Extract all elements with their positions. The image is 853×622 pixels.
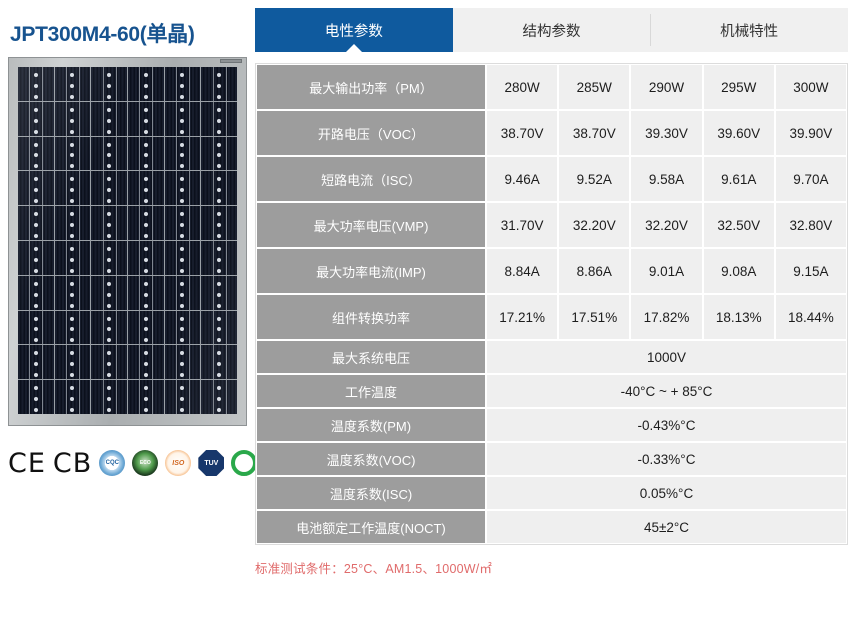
busbar-solder-dot xyxy=(34,269,38,273)
solar-cell xyxy=(91,102,127,136)
busbar-solder-dot xyxy=(107,408,111,412)
table-row: 组件转换功率17.21%17.51%17.82%18.13%18.44% xyxy=(257,295,846,339)
busbar-solder-dot xyxy=(180,282,184,286)
spec-value-cell: -40°C ~ + 85°C xyxy=(487,375,846,407)
spec-value-cell: 32.20V xyxy=(631,203,701,247)
busbar-solder-dot xyxy=(107,338,111,342)
solar-cell xyxy=(165,241,201,275)
busbar-solder-dot xyxy=(217,408,221,412)
spec-value-cell: 39.90V xyxy=(776,111,846,155)
busbar-solder-dot xyxy=(180,84,184,88)
solar-cell xyxy=(91,206,127,240)
busbar-solder-dot xyxy=(70,164,74,168)
busbar-solder-dot xyxy=(144,223,148,227)
busbar-solder-dot xyxy=(107,223,111,227)
spec-value-cell: 290W xyxy=(631,65,701,109)
product-showcase-panel: JPT300M4-60(单晶) CE CB CQC ECO ISO TUV xyxy=(0,0,255,622)
busbar-solder-dot xyxy=(144,293,148,297)
busbar-solder-dot xyxy=(217,338,221,342)
busbar-solder-dot xyxy=(34,386,38,390)
busbar-solder-dot xyxy=(107,177,111,181)
spec-value-cell: 32.50V xyxy=(704,203,774,247)
busbar-solder-dot xyxy=(34,373,38,377)
busbar-solder-dot xyxy=(34,258,38,262)
busbar-solder-dot xyxy=(217,212,221,216)
table-row: 电池额定工作温度(NOCT)45±2°C xyxy=(257,511,846,543)
spec-value-cell: 9.08A xyxy=(704,249,774,293)
busbar-solder-dot xyxy=(70,223,74,227)
spec-row-label: 短路电流（ISC） xyxy=(257,157,485,201)
solar-cell xyxy=(18,345,54,379)
spec-value-cell: 32.20V xyxy=(559,203,629,247)
busbar-solder-dot xyxy=(107,247,111,251)
busbar-solder-dot xyxy=(180,338,184,342)
spec-row-values: 8.84A8.86A9.01A9.08A9.15A xyxy=(487,249,846,293)
solar-cell xyxy=(128,102,164,136)
busbar-solder-dot xyxy=(70,73,74,77)
solar-cell xyxy=(55,241,91,275)
solar-cell xyxy=(201,102,237,136)
busbar-solder-dot xyxy=(180,373,184,377)
busbar-solder-dot xyxy=(217,108,221,112)
solar-panel-image xyxy=(8,57,247,426)
spec-value-cell: 18.44% xyxy=(776,295,846,339)
spec-row-values: 280W285W290W295W300W xyxy=(487,65,846,109)
green-ring-badge-icon xyxy=(231,450,257,476)
spec-row-values: -0.33%°C xyxy=(487,443,846,475)
busbar-solder-dot xyxy=(34,304,38,308)
busbar-solder-dot xyxy=(34,338,38,342)
busbar-solder-dot xyxy=(34,282,38,286)
busbar-solder-dot xyxy=(217,327,221,331)
busbar-solder-dot xyxy=(107,212,111,216)
solar-cell xyxy=(91,380,127,414)
busbar-solder-dot xyxy=(107,362,111,366)
tab-label: 结构参数 xyxy=(523,20,581,41)
busbar-solder-dot xyxy=(107,327,111,331)
busbar-solder-dot xyxy=(180,408,184,412)
table-row: 最大系统电压1000V xyxy=(257,341,846,373)
table-row: 最大功率电压(VMP)31.70V32.20V32.20V32.50V32.80… xyxy=(257,203,846,247)
solar-cell xyxy=(165,171,201,205)
busbar-solder-dot xyxy=(70,338,74,342)
busbar-solder-dot xyxy=(144,373,148,377)
busbar-solder-dot xyxy=(180,212,184,216)
busbar-solder-dot xyxy=(144,362,148,366)
busbar-solder-dot xyxy=(70,408,74,412)
table-row: 最大输出功率（PM）280W285W290W295W300W xyxy=(257,65,846,109)
solar-cell xyxy=(18,102,54,136)
busbar-solder-dot xyxy=(34,130,38,134)
tuv-badge-icon: TUV xyxy=(198,450,224,476)
tab-structural-parameters[interactable]: 结构参数 xyxy=(453,8,651,52)
busbar-solder-dot xyxy=(107,95,111,99)
busbar-solder-dot xyxy=(180,317,184,321)
busbar-solder-dot xyxy=(70,212,74,216)
busbar-solder-dot xyxy=(180,119,184,123)
busbar-solder-dot xyxy=(70,304,74,308)
panel-nameplate-sticker xyxy=(220,59,242,63)
solar-cell xyxy=(201,276,237,310)
busbar-solder-dot xyxy=(144,351,148,355)
spec-tab-bar: 电性参数 结构参数 机械特性 xyxy=(255,8,848,52)
solar-cell xyxy=(91,345,127,379)
spec-value-cell: 38.70V xyxy=(487,111,557,155)
busbar-solder-dot xyxy=(180,95,184,99)
busbar-solder-dot xyxy=(34,351,38,355)
solar-cell xyxy=(91,171,127,205)
spec-value-cell: 9.15A xyxy=(776,249,846,293)
spec-value-cell: 17.21% xyxy=(487,295,557,339)
busbar-solder-dot xyxy=(70,386,74,390)
busbar-solder-dot xyxy=(34,143,38,147)
solar-cell xyxy=(55,311,91,345)
busbar-solder-dot xyxy=(144,119,148,123)
solar-cell xyxy=(128,241,164,275)
busbar-solder-dot xyxy=(70,119,74,123)
busbar-solder-dot xyxy=(180,304,184,308)
spec-row-label: 开路电压（VOC） xyxy=(257,111,485,155)
busbar-solder-dot xyxy=(144,234,148,238)
spec-row-values: 17.21%17.51%17.82%18.13%18.44% xyxy=(487,295,846,339)
spec-row-label: 最大输出功率（PM） xyxy=(257,65,485,109)
spec-value-cell: 9.70A xyxy=(776,157,846,201)
busbar-solder-dot xyxy=(107,304,111,308)
solar-cell xyxy=(165,311,201,345)
busbar-solder-dot xyxy=(70,293,74,297)
solar-cell xyxy=(18,137,54,171)
busbar-solder-dot xyxy=(34,73,38,77)
busbar-solder-dot xyxy=(217,164,221,168)
busbar-solder-dot xyxy=(34,199,38,203)
busbar-solder-dot xyxy=(34,397,38,401)
test-conditions-footnote: 标准测试条件：25°C、AM1.5、1000W/㎡ xyxy=(255,558,850,577)
spec-value-cell: 38.70V xyxy=(559,111,629,155)
busbar-solder-dot xyxy=(70,177,74,181)
cqc-badge-icon: CQC xyxy=(99,450,125,476)
solar-cell xyxy=(55,67,91,101)
electrical-spec-table: 最大输出功率（PM）280W285W290W295W300W开路电压（VOC）3… xyxy=(255,63,848,545)
busbar-solder-dot xyxy=(144,212,148,216)
solar-cell xyxy=(165,67,201,101)
solar-cell xyxy=(55,102,91,136)
spec-row-values: -0.43%°C xyxy=(487,409,846,441)
busbar-solder-dot xyxy=(217,223,221,227)
busbar-solder-dot xyxy=(180,188,184,192)
busbar-solder-dot xyxy=(217,282,221,286)
busbar-solder-dot xyxy=(180,293,184,297)
busbar-solder-dot xyxy=(144,397,148,401)
busbar-solder-dot xyxy=(180,143,184,147)
busbar-solder-dot xyxy=(217,73,221,77)
busbar-solder-dot xyxy=(180,397,184,401)
busbar-solder-dot xyxy=(70,327,74,331)
busbar-solder-dot xyxy=(107,130,111,134)
page-title: JPT300M4-60(单晶) xyxy=(10,18,195,48)
busbar-solder-dot xyxy=(217,119,221,123)
spec-row-values: -40°C ~ + 85°C xyxy=(487,375,846,407)
busbar-solder-dot xyxy=(144,258,148,262)
solar-cell xyxy=(55,345,91,379)
busbar-solder-dot xyxy=(107,351,111,355)
solar-cell xyxy=(128,345,164,379)
busbar-solder-dot xyxy=(70,130,74,134)
busbar-solder-dot xyxy=(180,73,184,77)
busbar-solder-dot xyxy=(70,362,74,366)
busbar-solder-dot xyxy=(34,327,38,331)
busbar-solder-dot xyxy=(217,143,221,147)
spec-value-cell: -0.33%°C xyxy=(487,443,846,475)
table-row: 温度系数(VOC)-0.33%°C xyxy=(257,443,846,475)
iso-badge-icon: ISO xyxy=(165,450,191,476)
busbar-solder-dot xyxy=(70,317,74,321)
busbar-solder-dot xyxy=(107,164,111,168)
busbar-solder-dot xyxy=(217,304,221,308)
spec-value-cell: 8.84A xyxy=(487,249,557,293)
busbar-solder-dot xyxy=(217,269,221,273)
busbar-solder-dot xyxy=(217,373,221,377)
spec-row-label: 工作温度 xyxy=(257,375,485,407)
busbar-solder-dot xyxy=(70,282,74,286)
busbar-solder-dot xyxy=(70,188,74,192)
solar-cell xyxy=(18,311,54,345)
solar-cell-grid xyxy=(18,67,237,414)
solar-cell xyxy=(18,171,54,205)
busbar-solder-dot xyxy=(144,95,148,99)
busbar-solder-dot xyxy=(34,188,38,192)
solar-cell xyxy=(18,276,54,310)
busbar-solder-dot xyxy=(144,108,148,112)
busbar-solder-dot xyxy=(34,84,38,88)
spec-value-cell: 32.80V xyxy=(776,203,846,247)
table-row: 短路电流（ISC）9.46A9.52A9.58A9.61A9.70A xyxy=(257,157,846,201)
table-row: 温度系数(PM)-0.43%°C xyxy=(257,409,846,441)
busbar-solder-dot xyxy=(107,153,111,157)
busbar-solder-dot xyxy=(180,327,184,331)
busbar-solder-dot xyxy=(217,317,221,321)
busbar-solder-dot xyxy=(217,234,221,238)
spec-value-cell: 280W xyxy=(487,65,557,109)
solar-cell xyxy=(201,345,237,379)
solar-cell xyxy=(201,137,237,171)
busbar-solder-dot xyxy=(180,177,184,181)
table-row: 最大功率电流(IMP)8.84A8.86A9.01A9.08A9.15A xyxy=(257,249,846,293)
tab-mechanical-characteristics[interactable]: 机械特性 xyxy=(650,8,848,52)
spec-row-values: 31.70V32.20V32.20V32.50V32.80V xyxy=(487,203,846,247)
busbar-solder-dot xyxy=(34,164,38,168)
solar-cell xyxy=(55,206,91,240)
solar-cell xyxy=(165,206,201,240)
spec-value-cell: 31.70V xyxy=(487,203,557,247)
busbar-solder-dot xyxy=(107,84,111,88)
busbar-solder-dot xyxy=(144,188,148,192)
busbar-solder-dot xyxy=(107,258,111,262)
busbar-solder-dot xyxy=(70,247,74,251)
spec-row-values: 9.46A9.52A9.58A9.61A9.70A xyxy=(487,157,846,201)
table-row: 温度系数(ISC)0.05%°C xyxy=(257,477,846,509)
busbar-solder-dot xyxy=(180,164,184,168)
spec-value-cell: 300W xyxy=(776,65,846,109)
busbar-solder-dot xyxy=(180,130,184,134)
busbar-solder-dot xyxy=(70,153,74,157)
solar-cell xyxy=(55,380,91,414)
spec-row-values: 0.05%°C xyxy=(487,477,846,509)
tab-label: 机械特性 xyxy=(720,20,778,41)
solar-cell xyxy=(165,137,201,171)
busbar-solder-dot xyxy=(70,108,74,112)
busbar-solder-dot xyxy=(107,188,111,192)
spec-row-label: 温度系数(PM) xyxy=(257,409,485,441)
spec-value-cell: 285W xyxy=(559,65,629,109)
busbar-solder-dot xyxy=(107,108,111,112)
solar-cell xyxy=(18,241,54,275)
busbar-solder-dot xyxy=(70,269,74,273)
busbar-solder-dot xyxy=(217,362,221,366)
busbar-solder-dot xyxy=(34,177,38,181)
spec-value-cell: 1000V xyxy=(487,341,846,373)
busbar-solder-dot xyxy=(144,164,148,168)
busbar-solder-dot xyxy=(70,373,74,377)
spec-row-label: 最大系统电压 xyxy=(257,341,485,373)
solar-cell xyxy=(165,102,201,136)
tab-label: 电性参数 xyxy=(325,20,383,41)
busbar-solder-dot xyxy=(34,119,38,123)
busbar-solder-dot xyxy=(180,199,184,203)
solar-cell xyxy=(18,380,54,414)
panel-laminate xyxy=(18,67,237,414)
busbar-solder-dot xyxy=(180,269,184,273)
busbar-solder-dot xyxy=(144,304,148,308)
spec-row-values: 1000V xyxy=(487,341,846,373)
busbar-solder-dot xyxy=(217,397,221,401)
busbar-solder-dot xyxy=(217,130,221,134)
solar-cell xyxy=(201,67,237,101)
busbar-solder-dot xyxy=(180,362,184,366)
table-row: 工作温度-40°C ~ + 85°C xyxy=(257,375,846,407)
busbar-solder-dot xyxy=(70,143,74,147)
busbar-solder-dot xyxy=(180,386,184,390)
solar-cell xyxy=(128,67,164,101)
busbar-solder-dot xyxy=(107,373,111,377)
spec-value-cell: 9.52A xyxy=(559,157,629,201)
busbar-solder-dot xyxy=(34,247,38,251)
busbar-solder-dot xyxy=(107,293,111,297)
ce-mark-icon: CE xyxy=(8,450,46,477)
busbar-solder-dot xyxy=(180,247,184,251)
busbar-solder-dot xyxy=(144,269,148,273)
busbar-solder-dot xyxy=(144,247,148,251)
solar-cell xyxy=(201,171,237,205)
busbar-solder-dot xyxy=(144,338,148,342)
spec-row-label: 组件转换功率 xyxy=(257,295,485,339)
busbar-solder-dot xyxy=(217,199,221,203)
busbar-solder-dot xyxy=(107,386,111,390)
busbar-solder-dot xyxy=(107,317,111,321)
solar-cell xyxy=(128,171,164,205)
busbar-solder-dot xyxy=(70,258,74,262)
busbar-solder-dot xyxy=(34,234,38,238)
busbar-solder-dot xyxy=(180,153,184,157)
solar-cell xyxy=(128,137,164,171)
busbar-solder-dot xyxy=(34,408,38,412)
busbar-solder-dot xyxy=(107,282,111,286)
certification-logos: CE CB CQC ECO ISO TUV xyxy=(8,445,238,481)
spec-row-label: 温度系数(ISC) xyxy=(257,477,485,509)
spec-row-values: 45±2°C xyxy=(487,511,846,543)
spec-value-cell: 9.46A xyxy=(487,157,557,201)
busbar-solder-dot xyxy=(217,386,221,390)
busbar-solder-dot xyxy=(217,258,221,262)
specifications-panel: 电性参数 结构参数 机械特性 最大输出功率（PM）280W285W290W295… xyxy=(255,8,850,577)
solar-cell xyxy=(91,137,127,171)
spec-value-cell: 295W xyxy=(704,65,774,109)
solar-cell xyxy=(201,206,237,240)
busbar-solder-dot xyxy=(107,397,111,401)
solar-cell xyxy=(91,311,127,345)
spec-value-cell: 39.60V xyxy=(704,111,774,155)
busbar-solder-dot xyxy=(107,73,111,77)
busbar-solder-dot xyxy=(144,327,148,331)
busbar-solder-dot xyxy=(144,84,148,88)
busbar-solder-dot xyxy=(107,143,111,147)
busbar-solder-dot xyxy=(34,293,38,297)
busbar-solder-dot xyxy=(70,351,74,355)
busbar-solder-dot xyxy=(144,130,148,134)
busbar-solder-dot xyxy=(70,95,74,99)
busbar-solder-dot xyxy=(180,351,184,355)
busbar-solder-dot xyxy=(217,188,221,192)
solar-cell xyxy=(91,67,127,101)
busbar-solder-dot xyxy=(144,73,148,77)
busbar-solder-dot xyxy=(107,119,111,123)
busbar-solder-dot xyxy=(144,317,148,321)
busbar-solder-dot xyxy=(34,362,38,366)
busbar-solder-dot xyxy=(144,408,148,412)
solar-cell xyxy=(165,276,201,310)
busbar-solder-dot xyxy=(144,177,148,181)
busbar-solder-dot xyxy=(217,351,221,355)
busbar-solder-dot xyxy=(180,223,184,227)
solar-cell xyxy=(18,206,54,240)
tab-electrical-parameters[interactable]: 电性参数 xyxy=(255,8,453,52)
spec-value-cell: 39.30V xyxy=(631,111,701,155)
busbar-solder-dot xyxy=(34,95,38,99)
solar-cell xyxy=(128,276,164,310)
spec-row-label: 最大功率电压(VMP) xyxy=(257,203,485,247)
solar-cell xyxy=(18,67,54,101)
busbar-solder-dot xyxy=(34,223,38,227)
busbar-solder-dot xyxy=(180,108,184,112)
solar-cell xyxy=(55,137,91,171)
solar-cell xyxy=(91,241,127,275)
busbar-solder-dot xyxy=(217,293,221,297)
solar-cell xyxy=(55,171,91,205)
busbar-solder-dot xyxy=(180,258,184,262)
solar-cell xyxy=(91,276,127,310)
busbar-solder-dot xyxy=(217,247,221,251)
spec-value-cell: 9.01A xyxy=(631,249,701,293)
busbar-solder-dot xyxy=(217,95,221,99)
spec-value-cell: 8.86A xyxy=(559,249,629,293)
table-row: 开路电压（VOC）38.70V38.70V39.30V39.60V39.90V xyxy=(257,111,846,155)
spec-value-cell: 9.61A xyxy=(704,157,774,201)
solar-cell xyxy=(128,311,164,345)
solar-cell xyxy=(128,380,164,414)
busbar-solder-dot xyxy=(34,212,38,216)
busbar-solder-dot xyxy=(217,153,221,157)
spec-value-cell: 45±2°C xyxy=(487,511,846,543)
spec-row-label: 电池额定工作温度(NOCT) xyxy=(257,511,485,543)
